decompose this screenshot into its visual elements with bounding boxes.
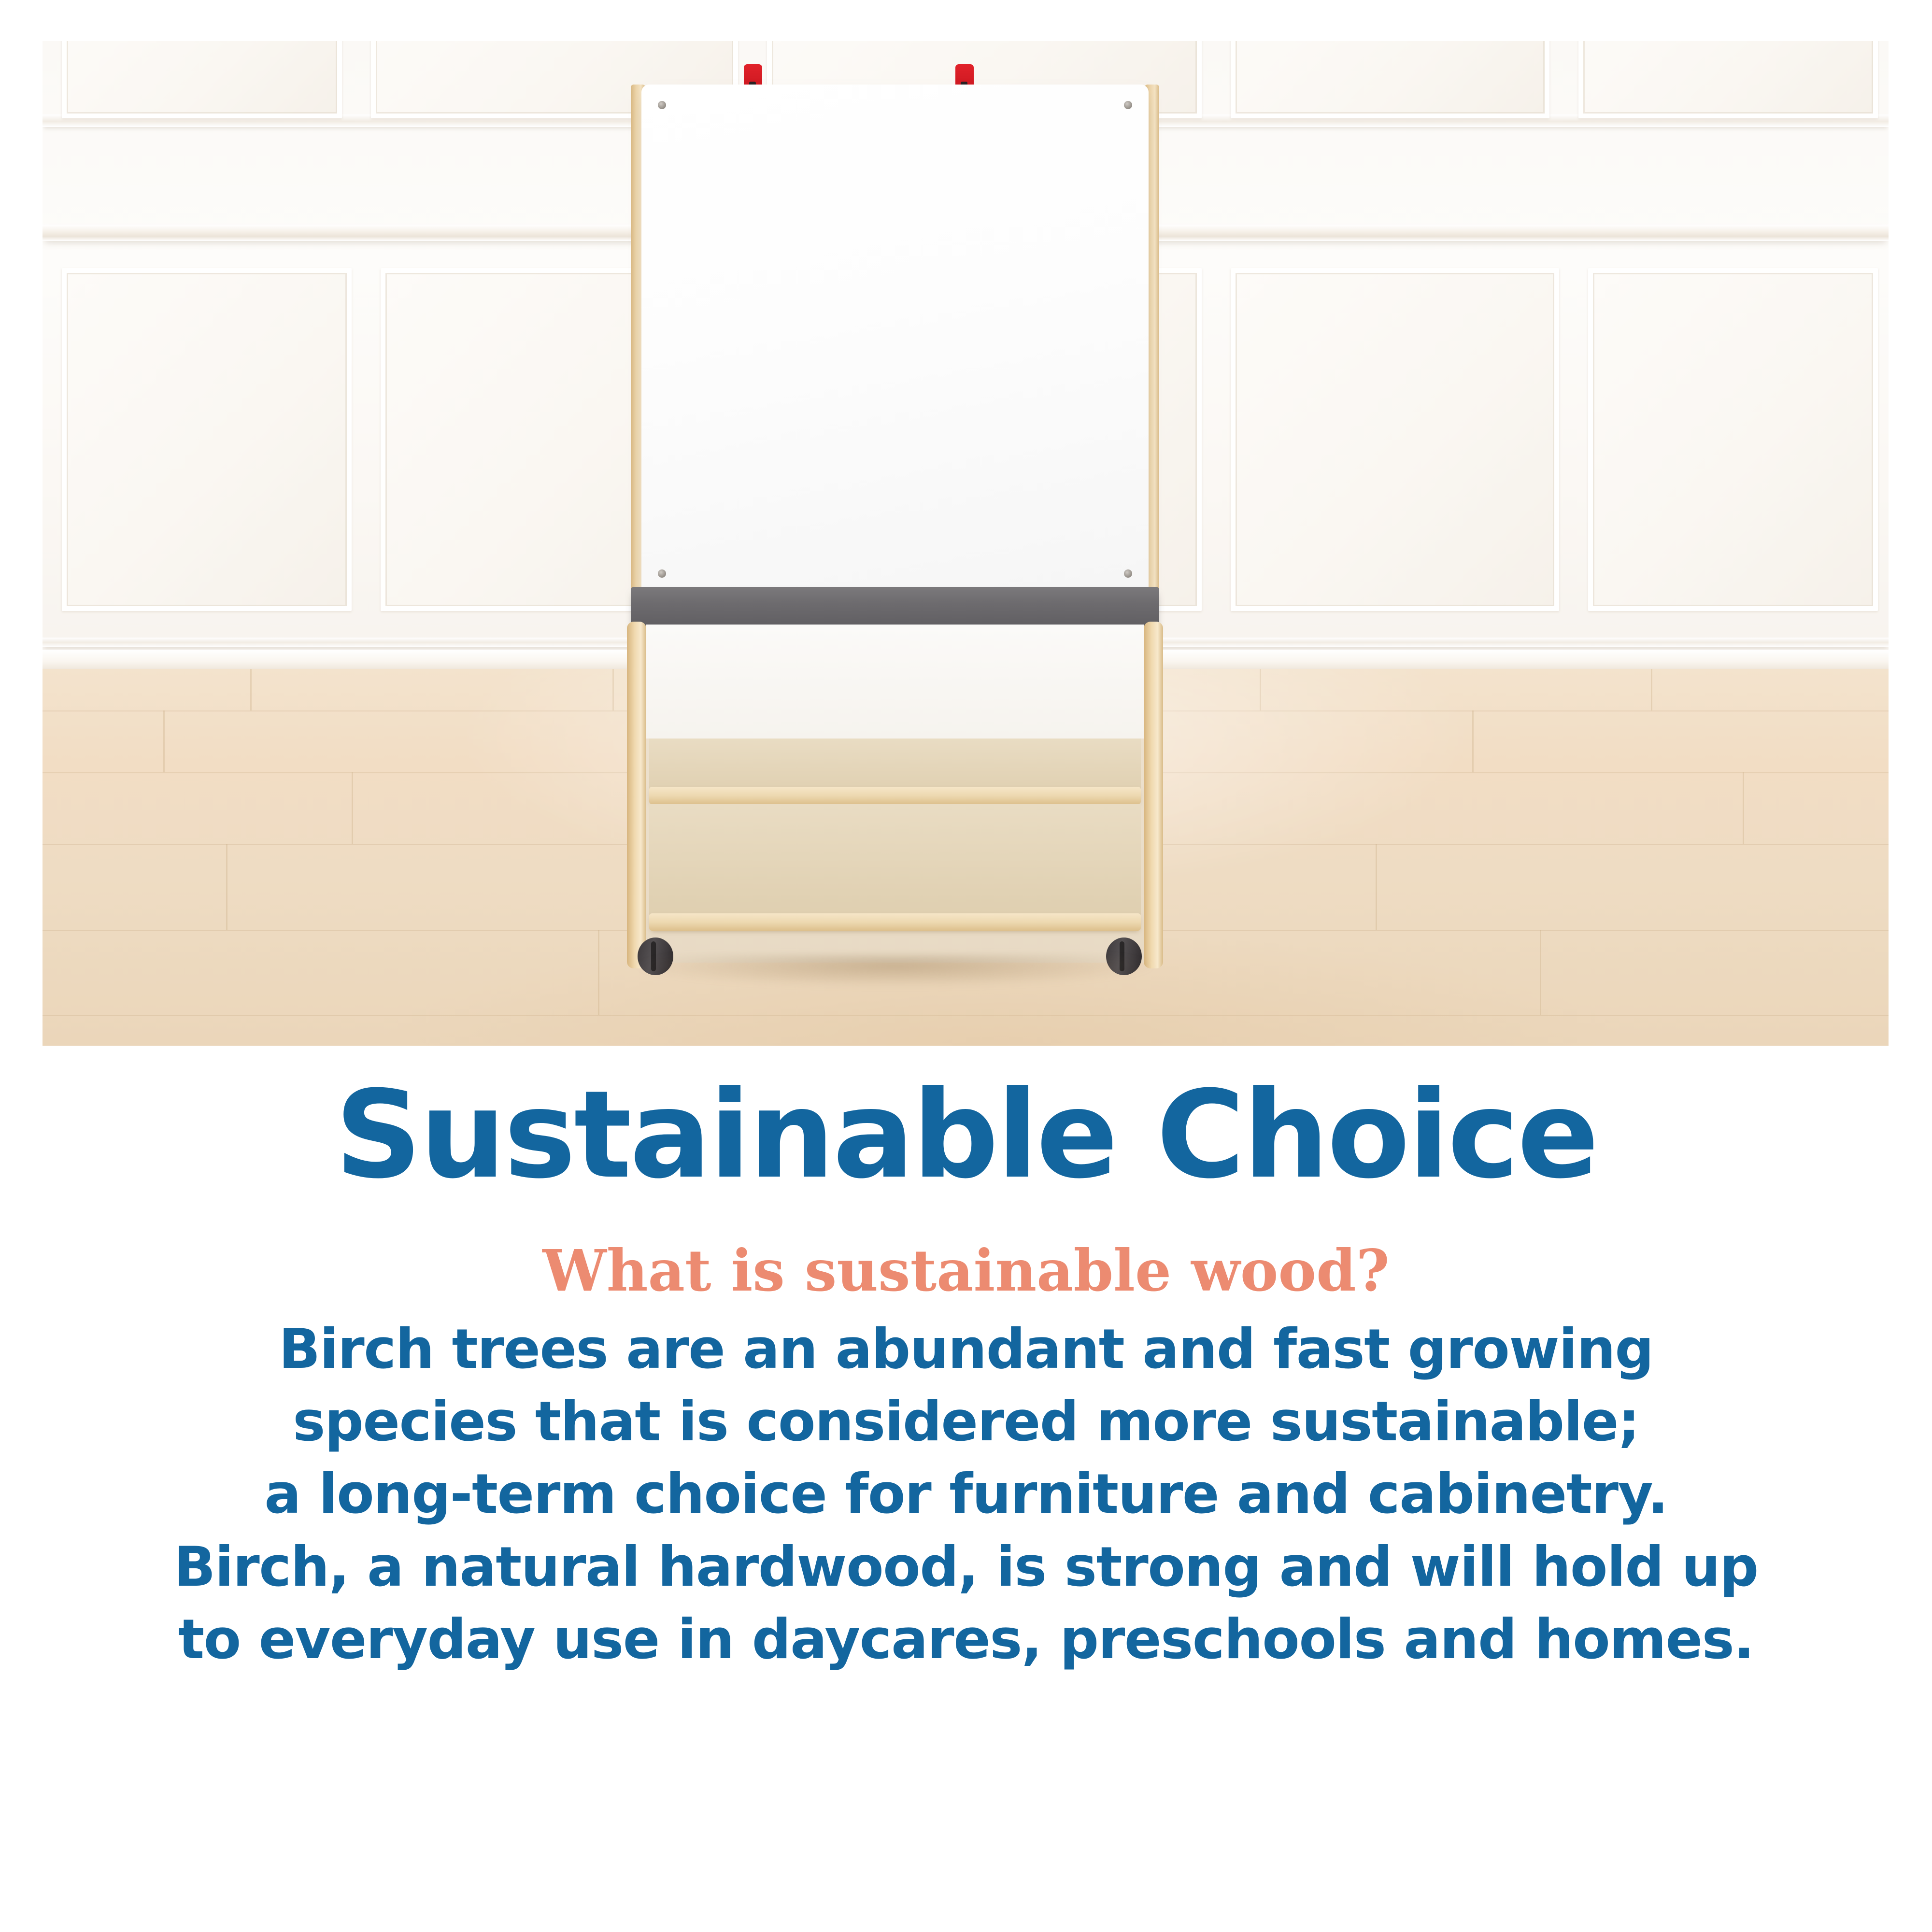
promo-text-block: Sustainable Choice What is sustainable w…	[0, 1072, 1932, 1676]
floor-board-edge	[1472, 710, 1474, 772]
floor-board-edge	[226, 844, 227, 930]
cart-shelf-rail-upper	[649, 787, 1141, 804]
wall-panel-lower-4	[1231, 268, 1559, 611]
wall-panel-lower-5	[1588, 268, 1878, 611]
whiteboard-surface	[641, 85, 1149, 589]
wall-panel-upper-5	[1578, 41, 1878, 118]
wall-panel-upper-1	[62, 41, 342, 118]
body-copy: Birch trees are an abundant and fast gro…	[0, 1313, 1932, 1676]
floor-board-edge	[250, 669, 252, 710]
cart-open-back-upper	[646, 625, 1144, 739]
cart-floor-shadow	[637, 955, 1153, 987]
wall-panel-lower-1	[62, 268, 352, 611]
section-subtitle: What is sustainable wood?	[0, 1239, 1932, 1302]
cart-side-panel-right	[1144, 622, 1163, 968]
floor-board-edge	[1651, 669, 1652, 710]
promo-card: Sustainable Choice What is sustainable w…	[0, 0, 1932, 1932]
whiteboard-easel-cart	[622, 60, 1168, 1017]
wall-panel-upper-4	[1231, 41, 1549, 118]
board-screw-bottom-left	[658, 569, 666, 578]
cart-side-panel-left	[627, 622, 646, 968]
body-line: to everyday use in daycares, preschools …	[0, 1603, 1932, 1676]
body-line: Birch trees are an abundant and fast gro…	[0, 1313, 1932, 1385]
floor-board-edge	[1540, 930, 1541, 1015]
board-screw-bottom-right	[1124, 569, 1132, 578]
body-line: Birch, a natural hardwood, is strong and…	[0, 1531, 1932, 1603]
body-line: species that is considered more sustaina…	[0, 1385, 1932, 1458]
floor-board-edge	[1260, 669, 1261, 710]
board-screw-top-right	[1124, 101, 1132, 109]
body-line: a long-term choice for furniture and cab…	[0, 1458, 1932, 1530]
page-title: Sustainable Choice	[0, 1072, 1932, 1198]
board-screw-top-left	[658, 101, 666, 109]
cart-interior	[646, 625, 1144, 963]
floor-board-edge	[598, 930, 599, 1015]
floor-board-edge	[1376, 844, 1377, 930]
floor-board-edge	[163, 710, 165, 772]
floor-board-edge	[612, 669, 614, 710]
cart-base	[622, 622, 1168, 979]
floor-board-edge	[1743, 772, 1744, 844]
product-photo	[43, 41, 1889, 1046]
cart-shelf-rail-lower	[649, 913, 1141, 931]
cart-shelf-deck-lower	[649, 804, 1141, 915]
floor-board-edge	[352, 772, 353, 844]
